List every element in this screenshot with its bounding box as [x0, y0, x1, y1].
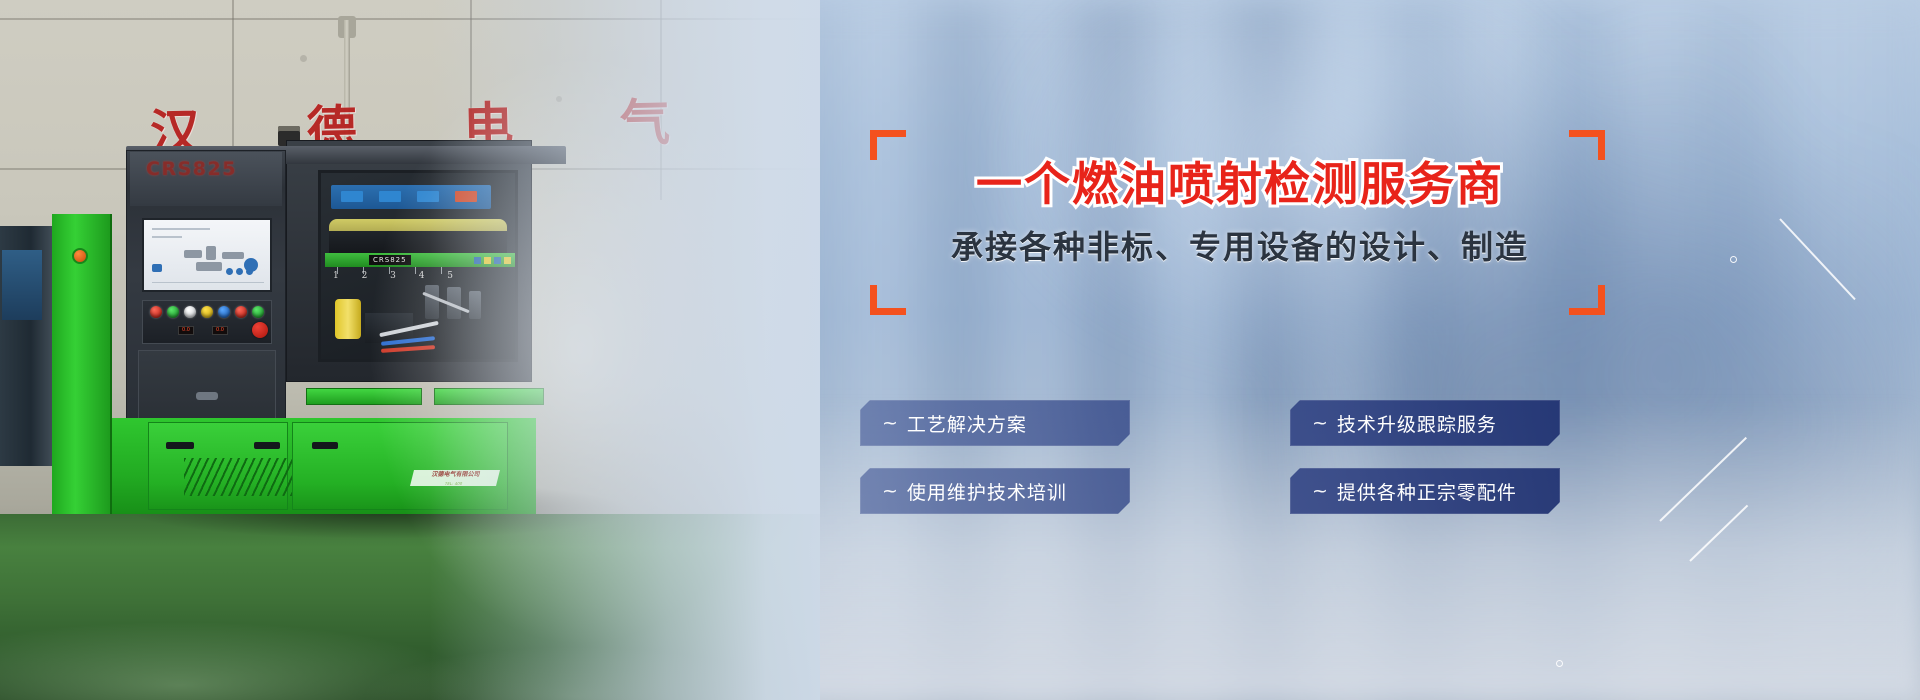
screen-icon [246, 268, 253, 275]
nozzle-number: 5 [447, 271, 453, 281]
feature-pill-list: ~ 工艺解决方案 ~ 技术升级跟踪服务 ~ 使用维护技术培训 ~ 提供各种正宗零… [860, 400, 1560, 514]
banner-subheadline: 承接各种非标、专用设备的设计、制造 [870, 222, 1610, 268]
rail-indicator-icons [474, 257, 511, 264]
screen-icon [226, 268, 233, 275]
display-cell-alert [455, 191, 477, 202]
button-yellow[interactable] [201, 306, 213, 318]
adjacent-machine-panel [2, 250, 42, 320]
feature-pill-process-solution[interactable]: ~ 工艺解决方案 [860, 400, 1130, 446]
screen-graphic [184, 250, 202, 258]
banner-content: 一个燃油喷射检测服务商 承接各种非标、专用设备的设计、制造 ~ 工艺解决方案 ~… [870, 110, 1630, 590]
cabinet-handle [254, 442, 280, 449]
feature-pill-label: 提供各种正宗零配件 [1337, 478, 1517, 505]
led-display-left: 0.0 [178, 326, 194, 335]
button-red-1[interactable] [150, 306, 162, 318]
cup-housing [329, 231, 507, 253]
display-cell [379, 191, 401, 202]
green-rail-bar: CRS825 [325, 253, 515, 267]
led-display-right: 0.0 [212, 326, 228, 335]
capacitor [425, 285, 439, 319]
tilde-icon: ~ [882, 480, 899, 502]
machine-glass-window: CRS825 1 2 3 4 5 [318, 170, 518, 362]
screen-line [152, 236, 182, 238]
button-blue[interactable] [218, 306, 230, 318]
screen-graphic [222, 252, 244, 259]
cabinet-handle [166, 442, 194, 449]
capacitor [469, 291, 481, 319]
screen-graphic [196, 262, 222, 271]
green-cabinet-door-right [292, 422, 508, 510]
screen-line [152, 282, 264, 283]
cabinet-handle [312, 442, 338, 449]
door-handle [196, 392, 218, 400]
led-value: 0.0 [179, 327, 193, 334]
corner-bracket-bottom-right [1569, 285, 1605, 315]
emergency-knob-icon [72, 248, 88, 264]
indicator-icon [504, 257, 511, 264]
feature-pill-training[interactable]: ~ 使用维护技术培训 [860, 468, 1130, 514]
corner-bracket-bottom-left [870, 285, 906, 315]
indicator-icon [484, 257, 491, 264]
indicator-icon [474, 257, 481, 264]
tilde-icon: ~ [1312, 480, 1329, 502]
decor-dot [1730, 256, 1737, 263]
button-green-1[interactable] [167, 306, 179, 318]
button-white[interactable] [184, 306, 196, 318]
nozzle-position-numbers: 1 2 3 4 5 [333, 271, 453, 281]
green-drawer [306, 388, 422, 405]
feature-pill-label: 工艺解决方案 [907, 410, 1027, 437]
company-sticker-name: 汉德电气有限公司 [412, 470, 500, 479]
cabinet-vent [184, 458, 292, 496]
machine-model-label: CRS825 [146, 158, 237, 180]
hose-red [381, 345, 435, 353]
feature-pill-label: 使用维护技术培训 [907, 478, 1067, 505]
banner-headline: 一个燃油喷射检测服务商 [870, 148, 1610, 214]
button-green-2[interactable] [252, 306, 264, 318]
screen-logo [152, 264, 162, 272]
led-value: 0.0 [213, 327, 227, 334]
machine-monitor [142, 218, 272, 292]
display-cell [417, 191, 439, 202]
wall-sign-char-4: 气 [619, 83, 670, 156]
company-sticker-phone: TEL: 400 [410, 479, 498, 488]
feature-pill-label: 技术升级跟踪服务 [1337, 410, 1497, 437]
tilde-icon: ~ [1312, 412, 1329, 434]
display-cell [341, 191, 363, 202]
company-sticker: 汉德电气有限公司 TEL: 400 [410, 470, 500, 486]
button-red-2[interactable] [235, 306, 247, 318]
nozzle-number: 3 [390, 271, 396, 281]
green-drawer [434, 388, 544, 405]
decor-dot [1556, 660, 1563, 667]
screen-line [152, 228, 210, 230]
nozzle-number: 2 [362, 271, 368, 281]
indicator-icon [494, 257, 501, 264]
hero-banner: 汉 德 电 气 CRS825 [0, 0, 1920, 700]
workshop-photo: 汉 德 电 气 CRS825 [0, 0, 820, 700]
wall-seam [0, 18, 820, 20]
emergency-stop-button[interactable] [252, 322, 268, 338]
nozzle-number: 1 [333, 271, 339, 281]
screen-graphic [206, 246, 216, 260]
nozzle-number: 4 [419, 271, 425, 281]
rail-label: CRS825 [369, 255, 411, 265]
tilde-icon: ~ [882, 412, 899, 434]
feature-pill-upgrade-service[interactable]: ~ 技术升级跟踪服务 [1290, 400, 1560, 446]
yellow-coil [335, 299, 361, 339]
feature-pill-genuine-parts[interactable]: ~ 提供各种正宗零配件 [1290, 468, 1560, 514]
screen-icon [236, 268, 243, 275]
wall-speck [300, 55, 307, 62]
